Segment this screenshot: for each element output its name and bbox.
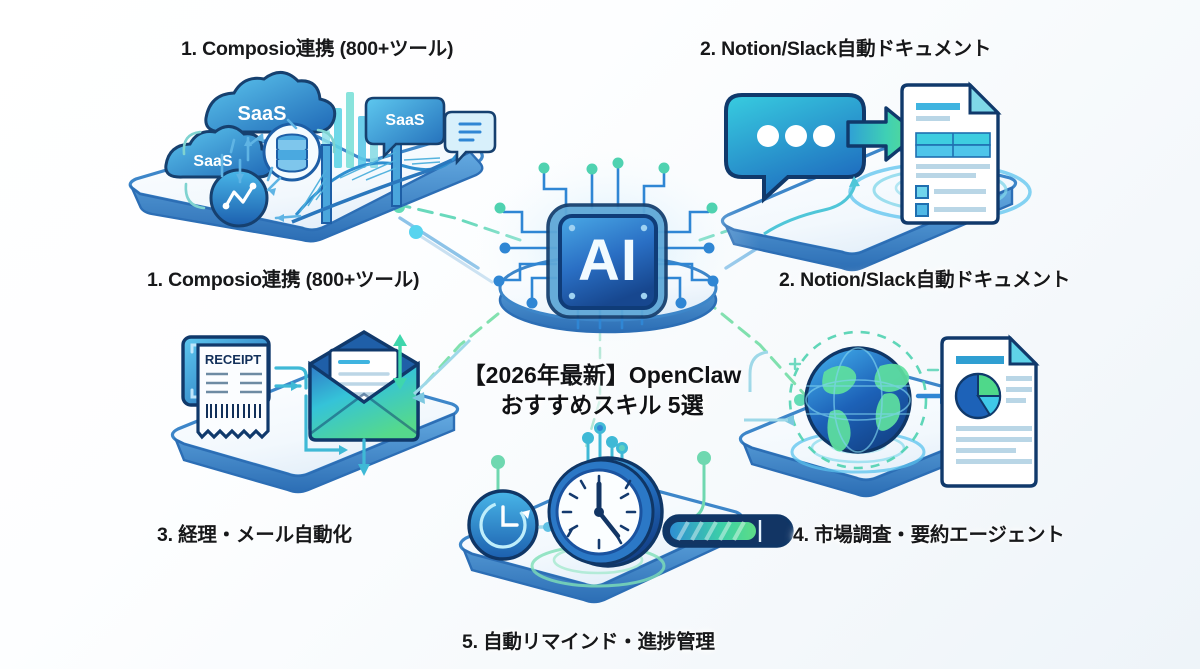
database-icon (264, 124, 320, 180)
ai-chip-label: AI (578, 228, 638, 293)
panel-accounting-mail[interactable]: RECEIPT (172, 332, 470, 492)
page-title: 【2026年最新】OpenClaw おすすめスキル 5選 (447, 360, 757, 421)
globe-icon (806, 348, 910, 452)
cloud-saas-icon: SaaS (166, 126, 275, 177)
panel-market-research[interactable] (740, 332, 1036, 496)
receipt-label: RECEIPT (205, 352, 261, 367)
receipt-icon: RECEIPT (198, 345, 268, 437)
label-composio-top: 1. Composio連携 (800+ツール) (181, 32, 453, 61)
page-title-line1: 【2026年最新】OpenClaw (447, 360, 757, 390)
cloud-saas-icon: SaaS (206, 72, 335, 132)
report-pie-document-icon (942, 338, 1036, 486)
label-accounting-mail: 3. 経理・メール自動化 (157, 518, 352, 547)
connector-node-dot (794, 394, 806, 406)
svg-text:SaaS: SaaS (238, 103, 287, 125)
progress-bar-icon (664, 516, 792, 546)
panel-notion-slack[interactable] (722, 85, 1030, 270)
infographic-canvas: SaaS SaaS (0, 0, 1200, 669)
panel-reminder-progress[interactable] (460, 424, 792, 603)
label-notion-slack-top: 2. Notion/Slack自動ドキュメント (700, 32, 991, 61)
timer-icon (469, 491, 537, 559)
ai-chip-hub[interactable]: AI (460, 140, 760, 360)
label-reminder-progress: 5. 自動リマインド・進捗管理 (462, 625, 715, 654)
clock-icon (549, 458, 662, 566)
pie-chart-icon (956, 374, 1000, 418)
document-icon (902, 85, 998, 223)
page-title-line2: おすすめスキル 5選 (447, 390, 757, 420)
label-market-research: 4. 市場調査・要約エージェント (793, 518, 1065, 547)
connector-node-dot (409, 225, 423, 239)
svg-text:SaaS: SaaS (385, 112, 424, 129)
label-notion-slack-mid: 2. Notion/Slack自動ドキュメント (779, 263, 1070, 292)
svg-text:SaaS: SaaS (193, 153, 232, 170)
label-composio-mid: 1. Composio連携 (800+ツール) (147, 263, 419, 292)
